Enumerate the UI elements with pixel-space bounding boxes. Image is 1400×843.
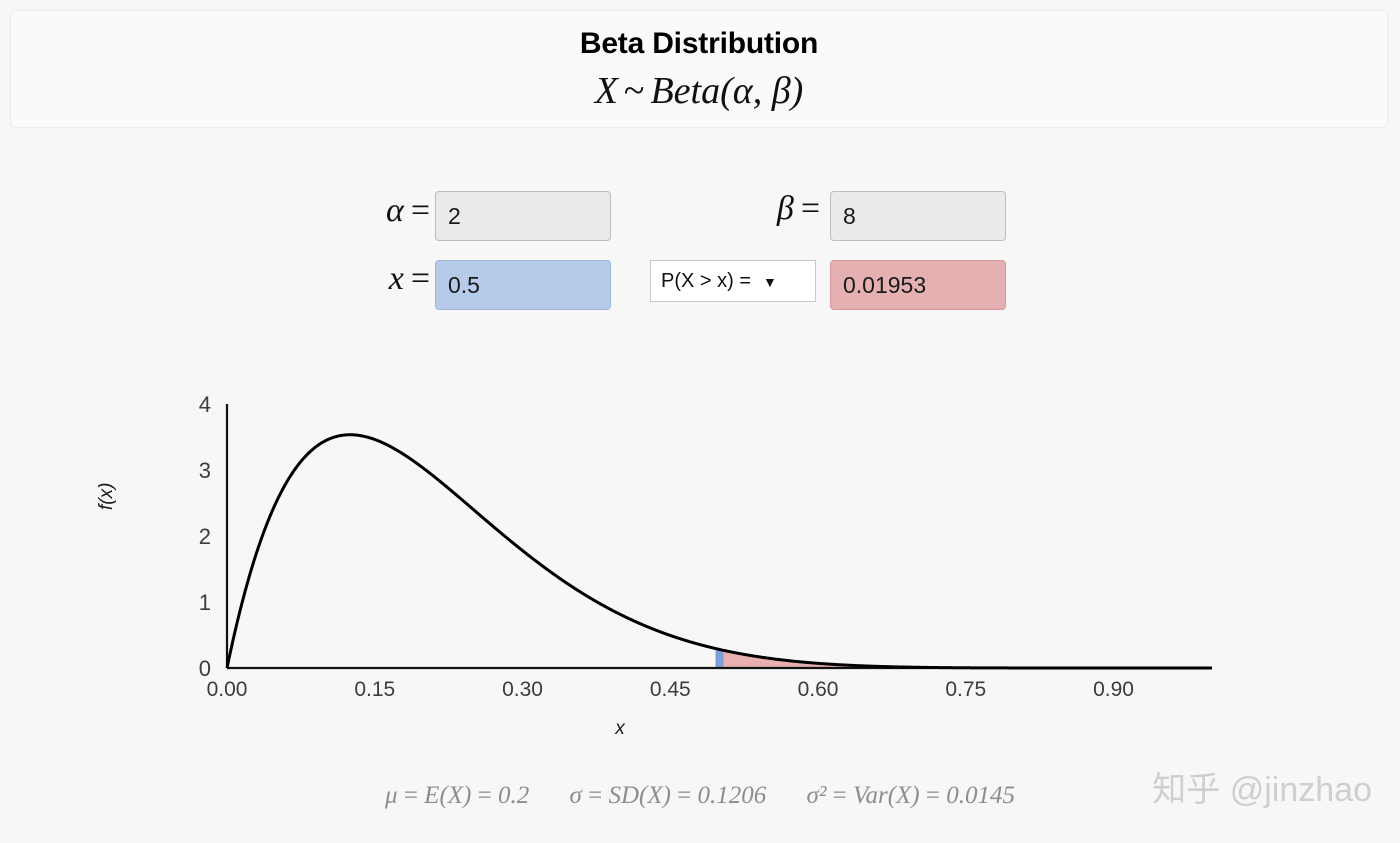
x-axis-label: x [0, 718, 1400, 740]
chevron-down-icon: ▼ [751, 274, 777, 290]
parameter-controls: α= 2 β= 8 x= 0.5 P(X > x) =▼ 0.01953 [0, 186, 1400, 326]
watermark: 知乎 @jinzhao [1152, 762, 1372, 811]
x-axis-tick-label: 0.30 [502, 678, 543, 701]
stat-var-value: 0.0145 [946, 782, 1015, 809]
y-axis-tick-label: 4 [199, 392, 211, 417]
alpha-symbol: α [386, 192, 404, 229]
stat-mean-value: 0.2 [498, 782, 529, 809]
beta-equals: = [794, 190, 820, 227]
header-panel: Beta Distribution X~Beta(α, β) [10, 10, 1388, 128]
x-symbol: x [389, 260, 404, 297]
distribution-formula: X~Beta(α, β) [11, 69, 1387, 113]
stat-var-name: Var(X) [853, 782, 920, 809]
beta-input[interactable]: 8 [830, 191, 1006, 241]
beta-symbol: β [777, 190, 794, 227]
x-label: x= [300, 260, 430, 298]
stat-sd-value: 0.1206 [698, 782, 767, 809]
stat-var-symbol: σ² [807, 782, 827, 809]
x-axis-tick-label: 0.60 [798, 678, 839, 701]
x-axis-tick-label: 0.75 [945, 678, 986, 701]
stat-mean: μ = E(X) = 0.2 [368, 782, 552, 809]
y-axis-tick-label: 0 [199, 656, 211, 681]
stat-sd: σ = SD(X) = 0.1206 [552, 782, 789, 809]
density-curve [227, 435, 1212, 668]
stat-mean-symbol: μ [385, 782, 398, 809]
x-axis-tick-label: 0.00 [207, 678, 248, 701]
stat-sd-symbol: σ [569, 782, 581, 809]
y-axis-tick-label: 3 [199, 458, 211, 483]
x-axis-tick-label: 0.15 [354, 678, 395, 701]
probability-type-select[interactable]: P(X > x) =▼ [650, 260, 816, 302]
distribution-plot: 0.000.150.300.450.600.750.9001234 [0, 330, 1400, 760]
beta-distribution-calculator: Beta Distribution X~Beta(α, β) α= 2 β= 8… [0, 0, 1400, 843]
alpha-label: α= [300, 192, 430, 230]
x-axis-tick-label: 0.90 [1093, 678, 1134, 701]
y-axis-tick-label: 2 [199, 524, 211, 549]
stat-mean-name: E(X) [424, 782, 471, 809]
y-axis-label: f(x) [96, 483, 118, 510]
formula-operator: ~ [618, 70, 651, 112]
stat-var: σ² = Var(X) = 0.0145 [790, 782, 1032, 809]
beta-label: β= [690, 190, 820, 228]
tail-area-fill [720, 649, 1213, 668]
probability-type-label: P(X > x) = [661, 270, 751, 292]
plot-svg: 0.000.150.300.450.600.750.9001234 [0, 330, 1400, 760]
y-axis-tick-label: 1 [199, 590, 211, 615]
stat-sd-name: SD(X) [608, 782, 670, 809]
x-input[interactable]: 0.5 [435, 260, 611, 310]
alpha-input[interactable]: 2 [435, 191, 611, 241]
page-title: Beta Distribution [11, 27, 1387, 61]
probability-result: 0.01953 [830, 260, 1006, 310]
formula-distribution: Beta(α, β) [650, 70, 803, 112]
alpha-equals: = [404, 192, 430, 229]
formula-variable: X [595, 70, 618, 112]
x-equals: = [404, 260, 430, 297]
x-marker-bar [716, 649, 724, 668]
x-axis-tick-label: 0.45 [650, 678, 691, 701]
